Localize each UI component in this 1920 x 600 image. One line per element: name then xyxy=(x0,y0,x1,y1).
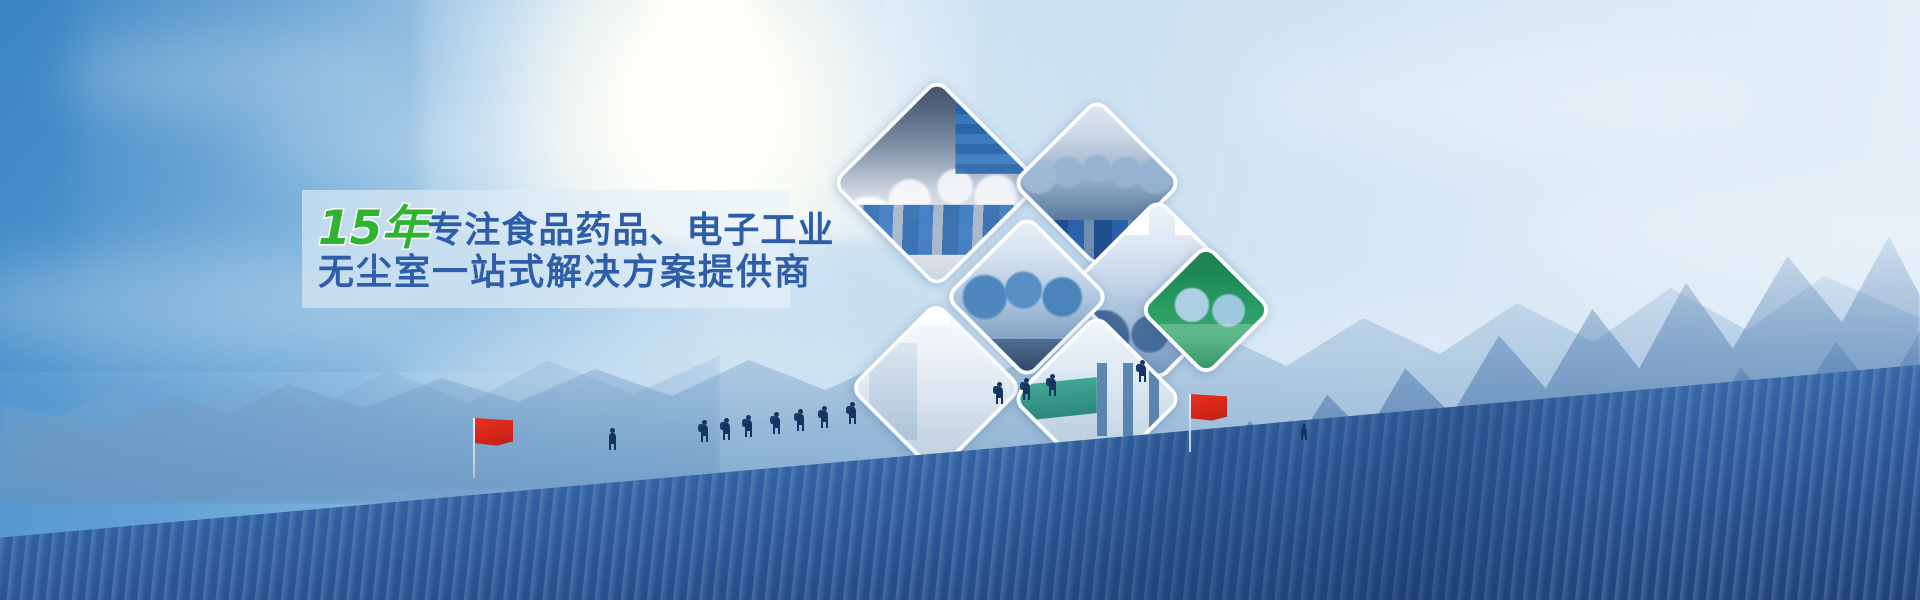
climber-2 xyxy=(700,420,711,442)
climber-leg xyxy=(723,433,725,440)
climber-leg xyxy=(1139,375,1141,382)
climber-leg xyxy=(1054,389,1056,396)
climber-leg xyxy=(802,424,804,431)
climber-5 xyxy=(772,412,783,434)
climber-8 xyxy=(848,402,859,424)
climber-leg xyxy=(996,397,998,404)
cloud xyxy=(60,30,400,120)
climber-leg xyxy=(1049,389,1051,396)
cloud xyxy=(1250,40,1770,160)
climber-leg xyxy=(1144,375,1146,382)
climber-leg xyxy=(797,424,799,431)
climber-9 xyxy=(995,382,1006,404)
climber-3 xyxy=(722,418,733,440)
climber-10 xyxy=(1022,378,1033,400)
climber-far-right xyxy=(1300,424,1309,440)
climber-leg xyxy=(826,421,828,428)
climber-leg xyxy=(728,433,730,440)
climber-leg xyxy=(1001,397,1003,404)
red-flag-left xyxy=(473,418,515,478)
red-flag-right xyxy=(1189,394,1231,452)
climber-1 xyxy=(608,428,619,450)
flag-pole xyxy=(1189,394,1191,452)
climber-4 xyxy=(744,415,755,437)
headline-line-1: 15年专注食品药品、电子工业 xyxy=(318,204,788,254)
climber-leg xyxy=(745,430,747,437)
climber-leg xyxy=(821,421,823,428)
climber-7 xyxy=(820,406,831,428)
climber-leg xyxy=(701,435,703,442)
climber-leg xyxy=(849,417,851,424)
hero-banner: 15年专注食品药品、电子工业 无尘室一站式解决方案提供商 xyxy=(0,0,1920,600)
climber-leg xyxy=(706,435,708,442)
climber-leg xyxy=(614,443,616,450)
climber-leg xyxy=(1301,435,1303,440)
climber-leg xyxy=(1028,393,1030,400)
climber-11 xyxy=(1048,374,1059,396)
page-title: 15年专注食品药品、电子工业 无尘室一站式解决方案提供商 xyxy=(318,204,788,292)
flag-cloth xyxy=(1191,394,1227,423)
climber-leg xyxy=(609,443,611,450)
climber-leg xyxy=(773,427,775,434)
climber-6 xyxy=(796,409,807,431)
climber-leg xyxy=(1305,435,1307,440)
climber-12 xyxy=(1138,360,1149,382)
climber-leg xyxy=(854,417,856,424)
headline-line-1-text: 专注食品药品、电子工业 xyxy=(427,210,834,251)
climber-leg xyxy=(1023,393,1025,400)
cloud xyxy=(240,110,660,180)
years-badge: 15年 xyxy=(318,201,427,256)
headline-line-2: 无尘室一站式解决方案提供商 xyxy=(318,254,788,292)
flag-pole xyxy=(473,418,475,478)
climber-leg xyxy=(750,430,752,437)
climber-leg xyxy=(778,427,780,434)
flag-cloth xyxy=(475,418,513,448)
